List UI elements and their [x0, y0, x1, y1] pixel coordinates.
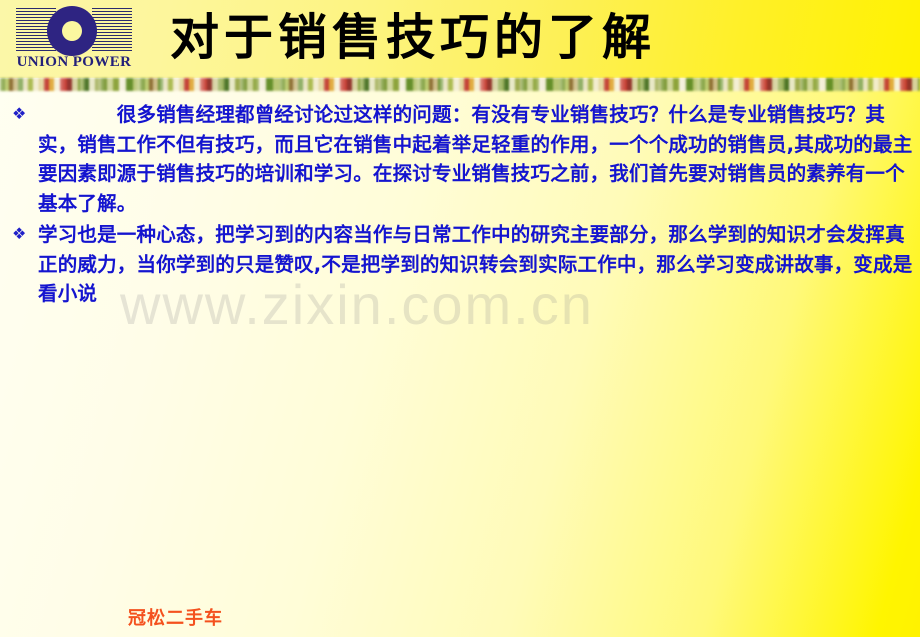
band-highlight-overlay — [0, 78, 920, 91]
slide-title: 对于销售技巧的了解 — [170, 2, 870, 74]
bullet-diamond-icon: ❖ — [12, 225, 30, 243]
bullet-item: ❖ 学习也是一种心态，把学习到的内容当作与日常工作中的研究主要部分，那么学到的知… — [0, 220, 920, 309]
logo-wordmark: UNION POWER — [10, 54, 138, 71]
union-power-logo: UNION POWER — [10, 4, 138, 76]
footer-label: 冠松二手车 — [128, 604, 223, 630]
bullet-diamond-icon: ❖ — [12, 105, 30, 123]
decorative-color-band — [0, 78, 920, 91]
bullet-paragraph: 学习也是一种心态，把学习到的内容当作与日常工作中的研究主要部分，那么学到的知识才… — [38, 220, 920, 309]
slide-body: ❖ 很多销售经理都曾经讨论过这样的问题：有没有专业销售技巧？什么是专业销售技巧？… — [0, 100, 920, 311]
logo-ring-icon — [47, 6, 97, 56]
slide-header: UNION POWER 对于销售技巧的了解 — [0, 0, 920, 78]
logo-hatch-right-icon — [92, 8, 132, 52]
logo-mark — [10, 4, 138, 56]
bullet-paragraph: 很多销售经理都曾经讨论过这样的问题：有没有专业销售技巧？什么是专业销售技巧？其实… — [38, 100, 920, 218]
presentation-slide: UNION POWER 对于销售技巧的了解 www.zixin.com.cn ❖… — [0, 0, 920, 637]
bullet-item: ❖ 很多销售经理都曾经讨论过这样的问题：有没有专业销售技巧？什么是专业销售技巧？… — [0, 100, 920, 218]
